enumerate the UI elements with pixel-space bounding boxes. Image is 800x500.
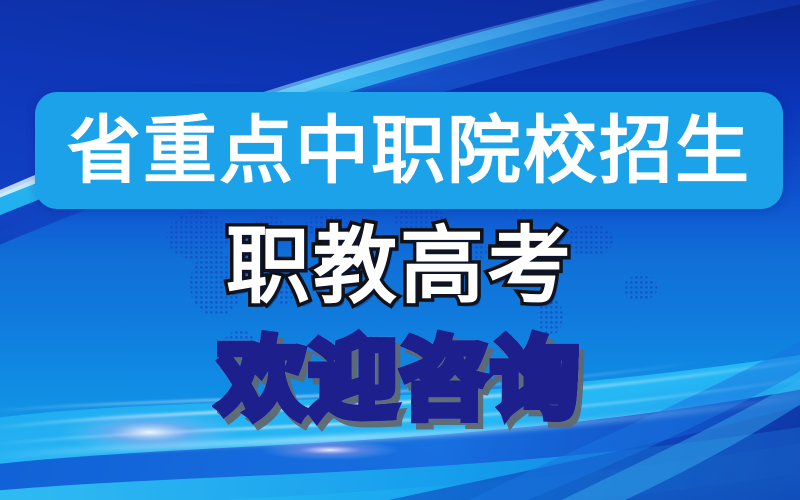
tagline-text: 欢迎咨询 <box>218 336 582 424</box>
lens-flare-core <box>260 440 400 460</box>
headline-banner: 省重点中职院校招生 <box>35 92 783 209</box>
tagline-row: 欢迎咨询 <box>0 336 800 424</box>
subhead-text: 职教高考 <box>226 224 574 308</box>
headline-text: 省重点中职院校招生 <box>67 114 751 188</box>
promo-poster: 省重点中职院校招生 职教高考 欢迎咨询 <box>0 0 800 500</box>
subhead-row: 职教高考 <box>0 224 800 308</box>
